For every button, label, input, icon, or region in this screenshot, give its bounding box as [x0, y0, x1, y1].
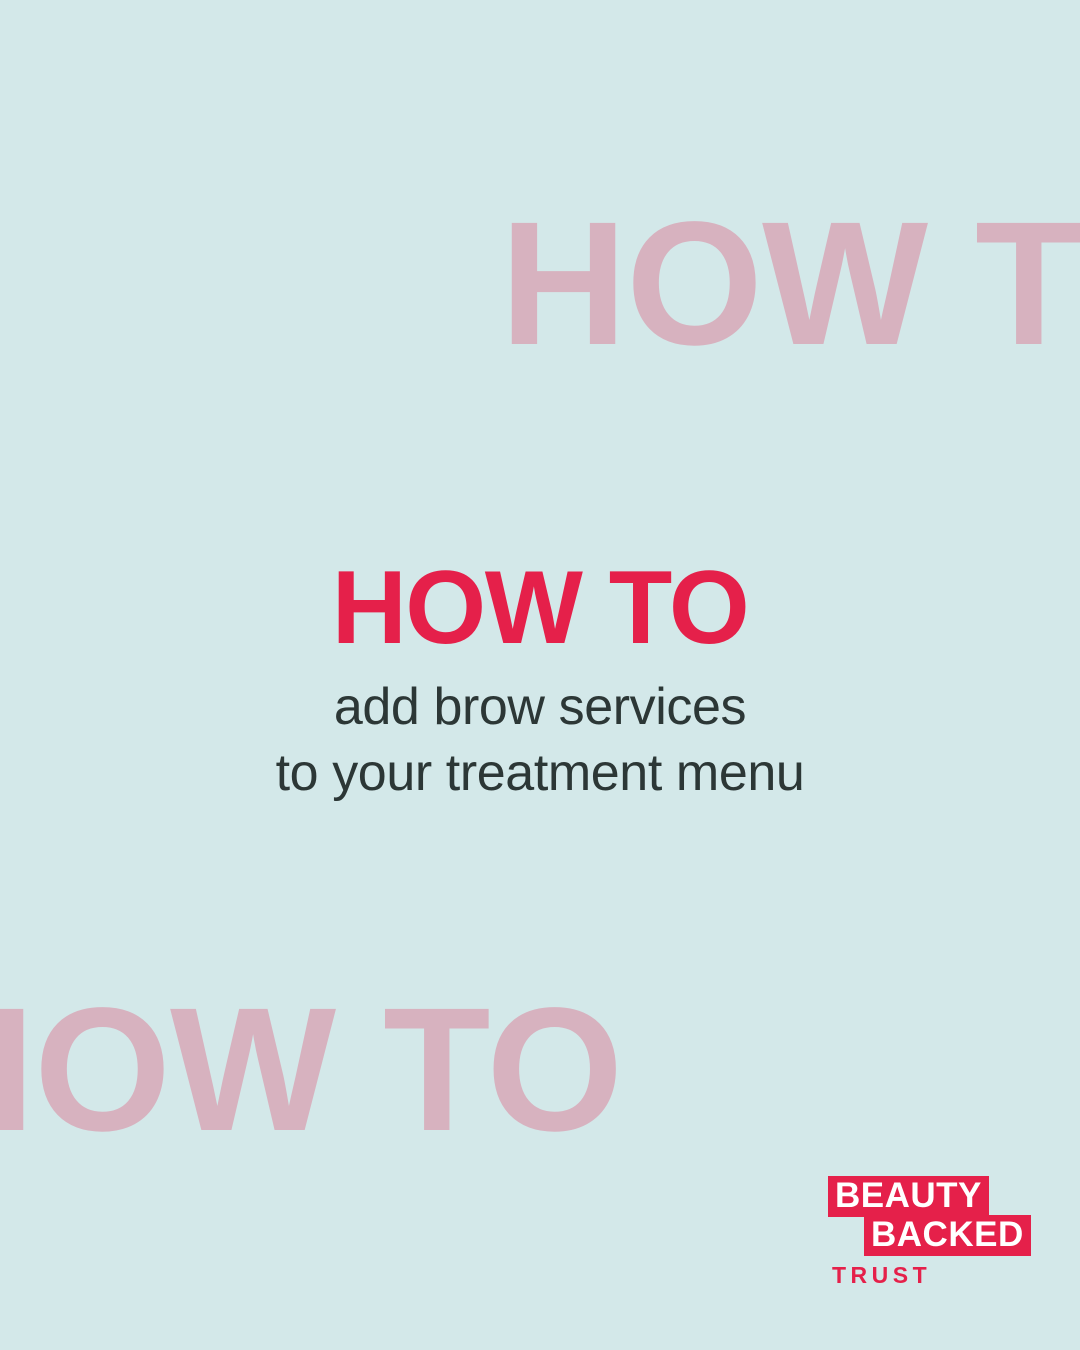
brand-logo: BEAUTY BACKED TRUST: [828, 1176, 1038, 1287]
subtitle: add brow services to your treatment menu: [0, 674, 1080, 806]
subtitle-line-2: to your treatment menu: [0, 740, 1080, 806]
logo-text-trust: TRUST: [832, 1263, 1038, 1287]
page-title: HOW TO: [0, 556, 1080, 660]
logo-row-backed: BACKED: [864, 1215, 1038, 1256]
social-card: HOW TO HOW TO HOW TO add brow services t…: [0, 0, 1080, 1350]
decorative-headline-top: HOW TO: [500, 196, 1080, 372]
decorative-headline-bottom: HOW TO: [0, 982, 622, 1158]
logo-text-beauty: BEAUTY: [828, 1176, 989, 1217]
logo-row-beauty: BEAUTY: [828, 1176, 1038, 1217]
subtitle-line-1: add brow services: [0, 674, 1080, 740]
logo-text-backed: BACKED: [864, 1215, 1031, 1256]
